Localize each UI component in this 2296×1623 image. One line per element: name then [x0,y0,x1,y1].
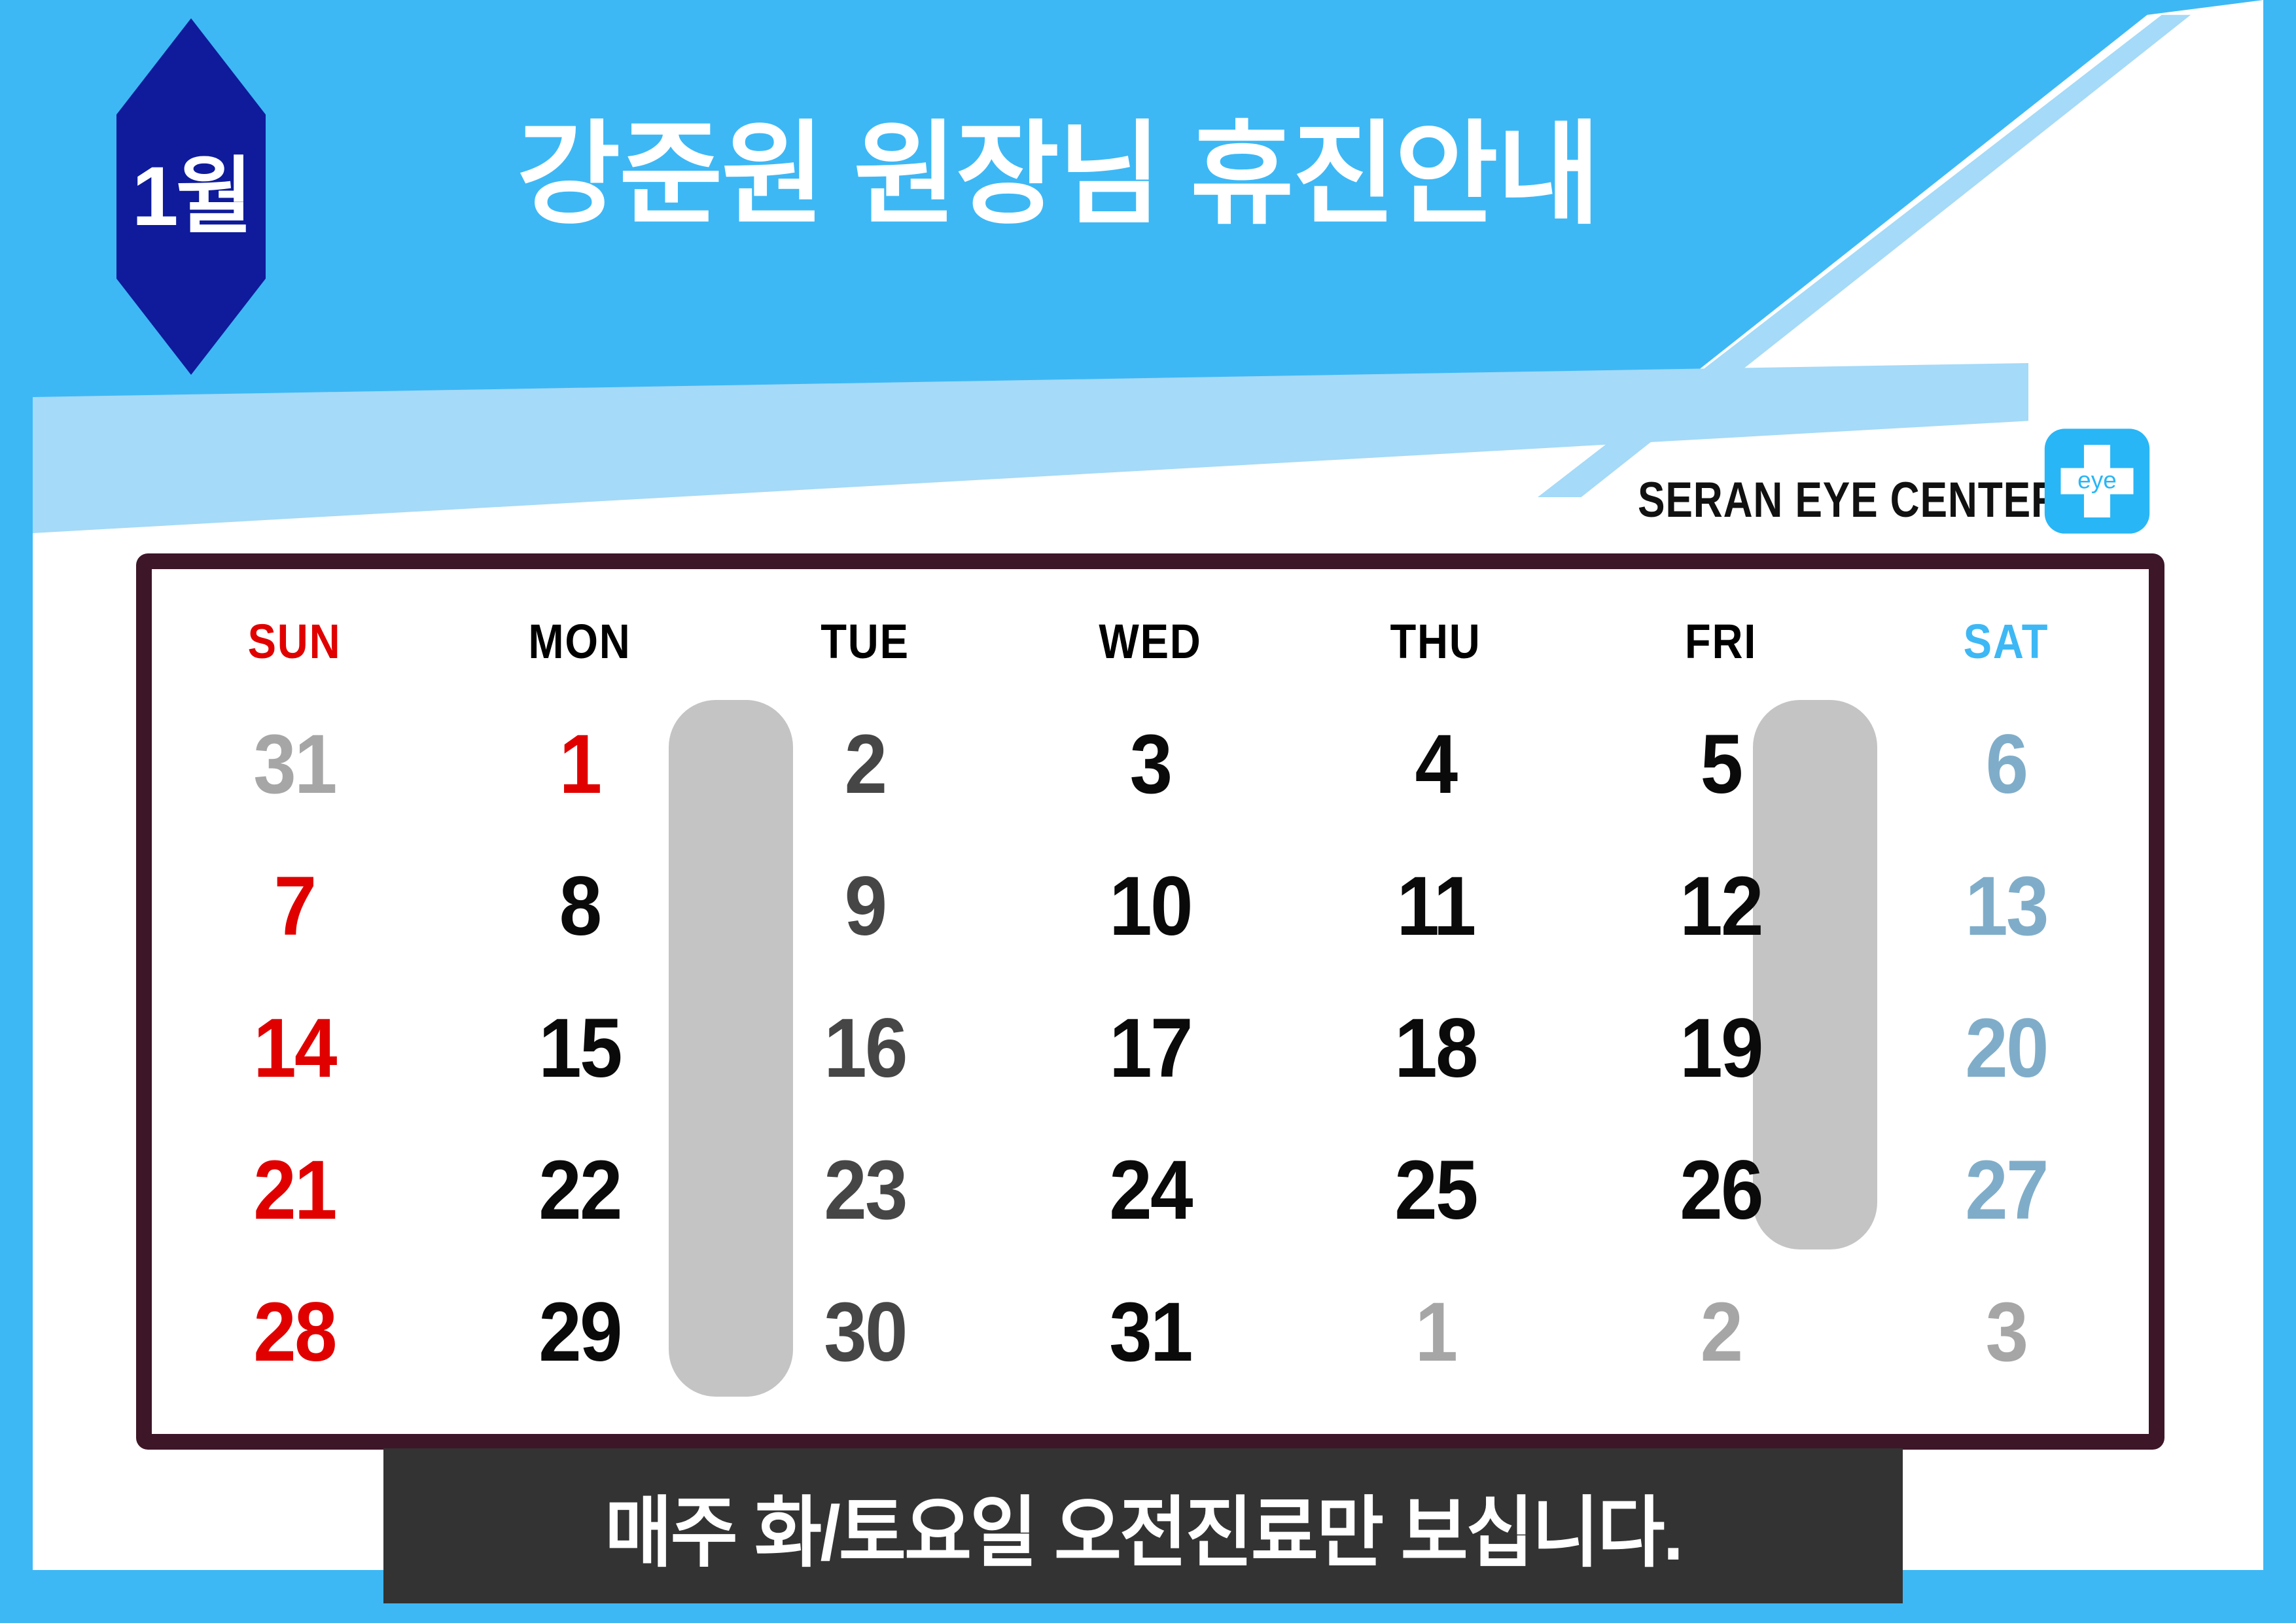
date-cell[interactable]: 4 [1304,693,1566,835]
date-cell[interactable]: 16 [733,977,996,1119]
brand-block: SERAN EYE CENTER eye [1567,419,2176,536]
date-cell[interactable]: 23 [733,1119,996,1261]
weekday-header-fri: FRI [1595,614,1846,669]
date-cell[interactable]: 31 [163,693,425,835]
calendar-card: SUN MON TUE WED THU FRI SAT 31 1 2 3 4 5… [136,553,2164,1450]
date-cell[interactable]: 25 [1304,1119,1566,1261]
date-cell[interactable]: 18 [1304,977,1566,1119]
weekday-header-sat: SAT [1881,614,2132,669]
date-cell[interactable]: 20 [1875,977,2137,1119]
date-cell[interactable]: 3 [1875,1261,2137,1403]
weekday-header-mon: MON [454,614,705,669]
date-cell[interactable]: 9 [733,835,996,977]
date-cell[interactable]: 6 [1875,693,2137,835]
weekday-header-sun: SUN [169,614,420,669]
seran-eye-center-logo: eye [2019,421,2176,542]
date-cell[interactable]: 22 [448,1119,711,1261]
date-cell[interactable]: 31 [1019,1261,1281,1403]
brand-name: SERAN EYE CENTER [1638,472,2061,529]
date-cell[interactable]: 26 [1589,1119,1852,1261]
date-cell[interactable]: 5 [1589,693,1852,835]
weekday-header-tue: TUE [739,614,991,669]
date-cell[interactable]: 2 [1589,1261,1852,1403]
date-cell[interactable]: 15 [448,977,711,1119]
date-cell[interactable]: 1 [448,693,711,835]
weekday-header-row: SUN MON TUE WED THU FRI SAT [152,602,2149,680]
frame-edge-right [2263,0,2296,1623]
date-cell[interactable]: 29 [448,1261,711,1403]
footer-notice-text: 매주 화/토요일 오전진료만 보십니다. [605,1470,1682,1582]
date-cell[interactable]: 17 [1019,977,1281,1119]
date-cell[interactable]: 12 [1589,835,1852,977]
date-cell[interactable]: 28 [163,1261,425,1403]
date-cell[interactable]: 3 [1019,693,1281,835]
date-cell[interactable]: 30 [733,1261,996,1403]
medical-cross-icon: eye [2019,421,2176,542]
frame-edge-left [0,0,33,1623]
date-cell[interactable]: 7 [163,835,425,977]
month-badge-label: 1월 [132,155,251,239]
date-cell[interactable]: 14 [163,977,425,1119]
weekday-header-thu: THU [1310,614,1561,669]
logo-eye-text: eye [2077,466,2117,493]
date-cell[interactable]: 19 [1589,977,1852,1119]
date-cell[interactable]: 2 [733,693,996,835]
date-cell[interactable]: 10 [1019,835,1281,977]
date-cell[interactable]: 27 [1875,1119,2137,1261]
footer-notice-banner: 매주 화/토요일 오전진료만 보십니다. [383,1448,1903,1603]
date-cell[interactable]: 1 [1304,1261,1566,1403]
page-title: 강준원 원장님 휴진안내 [517,105,1599,245]
date-cell[interactable]: 21 [163,1119,425,1261]
weekday-header-wed: WED [1025,614,1276,669]
date-cell[interactable]: 11 [1304,835,1566,977]
date-grid: 31 1 2 3 4 5 6 7 8 9 10 11 12 13 14 15 1… [152,693,2149,1403]
date-cell[interactable]: 8 [448,835,711,977]
date-cell[interactable]: 24 [1019,1119,1281,1261]
date-cell[interactable]: 13 [1875,835,2137,977]
